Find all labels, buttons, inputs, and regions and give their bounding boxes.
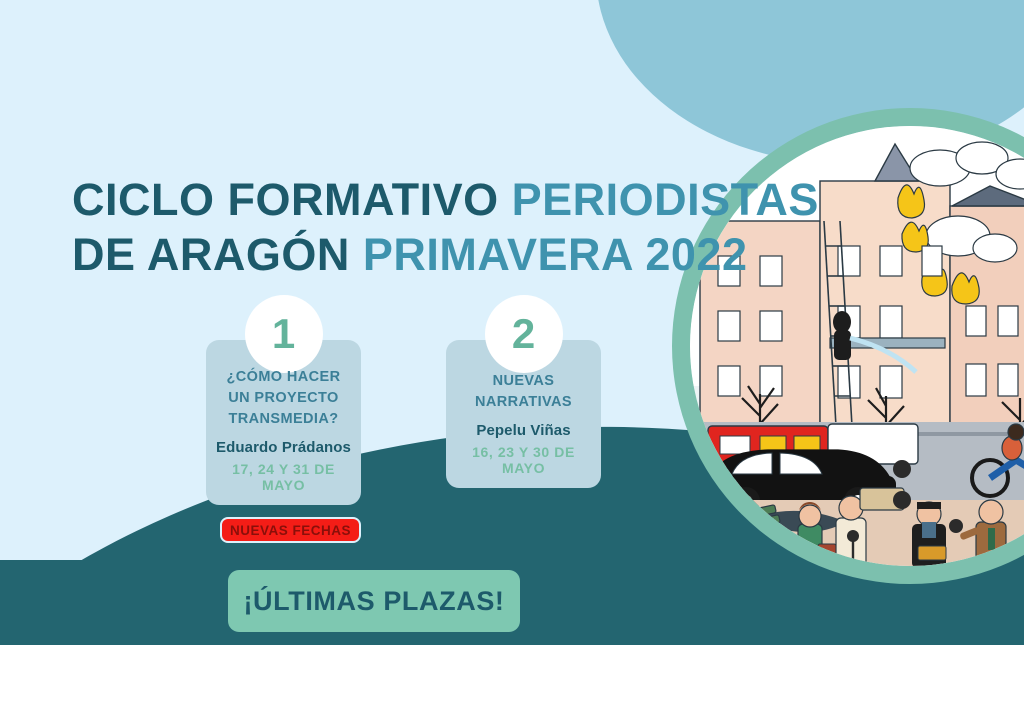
course-card-1-body: ¿CÓMO HACER UN PROYECTO TRANSMEDIA? Edua… bbox=[206, 367, 361, 493]
course-speaker-2: Pepelu Viñas bbox=[454, 422, 593, 439]
ultimas-plazas-banner[interactable]: ¡ÚLTIMAS PLAZAS! bbox=[228, 570, 520, 632]
page-title: CICLO FORMATIVO PERIODISTAS DE ARAGÓN PR… bbox=[72, 173, 772, 283]
status-badge-nuevas-fechas: NUEVAS FECHAS bbox=[222, 519, 359, 541]
course-topic-2: NUEVAS NARRATIVAS bbox=[454, 371, 593, 413]
title-line-2: DE ARAGÓN PRIMAVERA 2022 bbox=[72, 228, 772, 283]
course-number-badge-2: 2 bbox=[485, 295, 563, 373]
course-dates-2: 16, 23 Y 30 DE MAYO bbox=[454, 444, 593, 476]
course-card-2[interactable]: 2 NUEVAS NARRATIVAS Pepelu Viñas 16, 23 … bbox=[446, 340, 601, 488]
title-line-2-light: PRIMAVERA 2022 bbox=[363, 229, 748, 280]
course-dates-1: 17, 24 Y 31 DE MAYO bbox=[214, 461, 353, 493]
title-line-1-light: PERIODISTAS bbox=[512, 174, 819, 225]
title-line-2-dark: DE ARAGÓN bbox=[72, 229, 363, 280]
course-card-1[interactable]: 1 ¿CÓMO HACER UN PROYECTO TRANSMEDIA? Ed… bbox=[206, 340, 361, 505]
footer: Organiza Patrocinan ASOCIACIÓN DE PERIOD… bbox=[0, 645, 1024, 724]
title-line-1-dark: CICLO FORMATIVO bbox=[72, 174, 512, 225]
course-card-2-body: NUEVAS NARRATIVAS Pepelu Viñas 16, 23 Y … bbox=[446, 371, 601, 476]
title-line-1: CICLO FORMATIVO PERIODISTAS bbox=[72, 173, 772, 228]
course-number-badge-1: 1 bbox=[245, 295, 323, 373]
poster-canvas: CICLO FORMATIVO PERIODISTAS DE ARAGÓN PR… bbox=[0, 0, 1024, 724]
course-speaker-1: Eduardo Prádanos bbox=[214, 439, 353, 456]
course-topic-1: ¿CÓMO HACER UN PROYECTO TRANSMEDIA? bbox=[214, 367, 353, 430]
